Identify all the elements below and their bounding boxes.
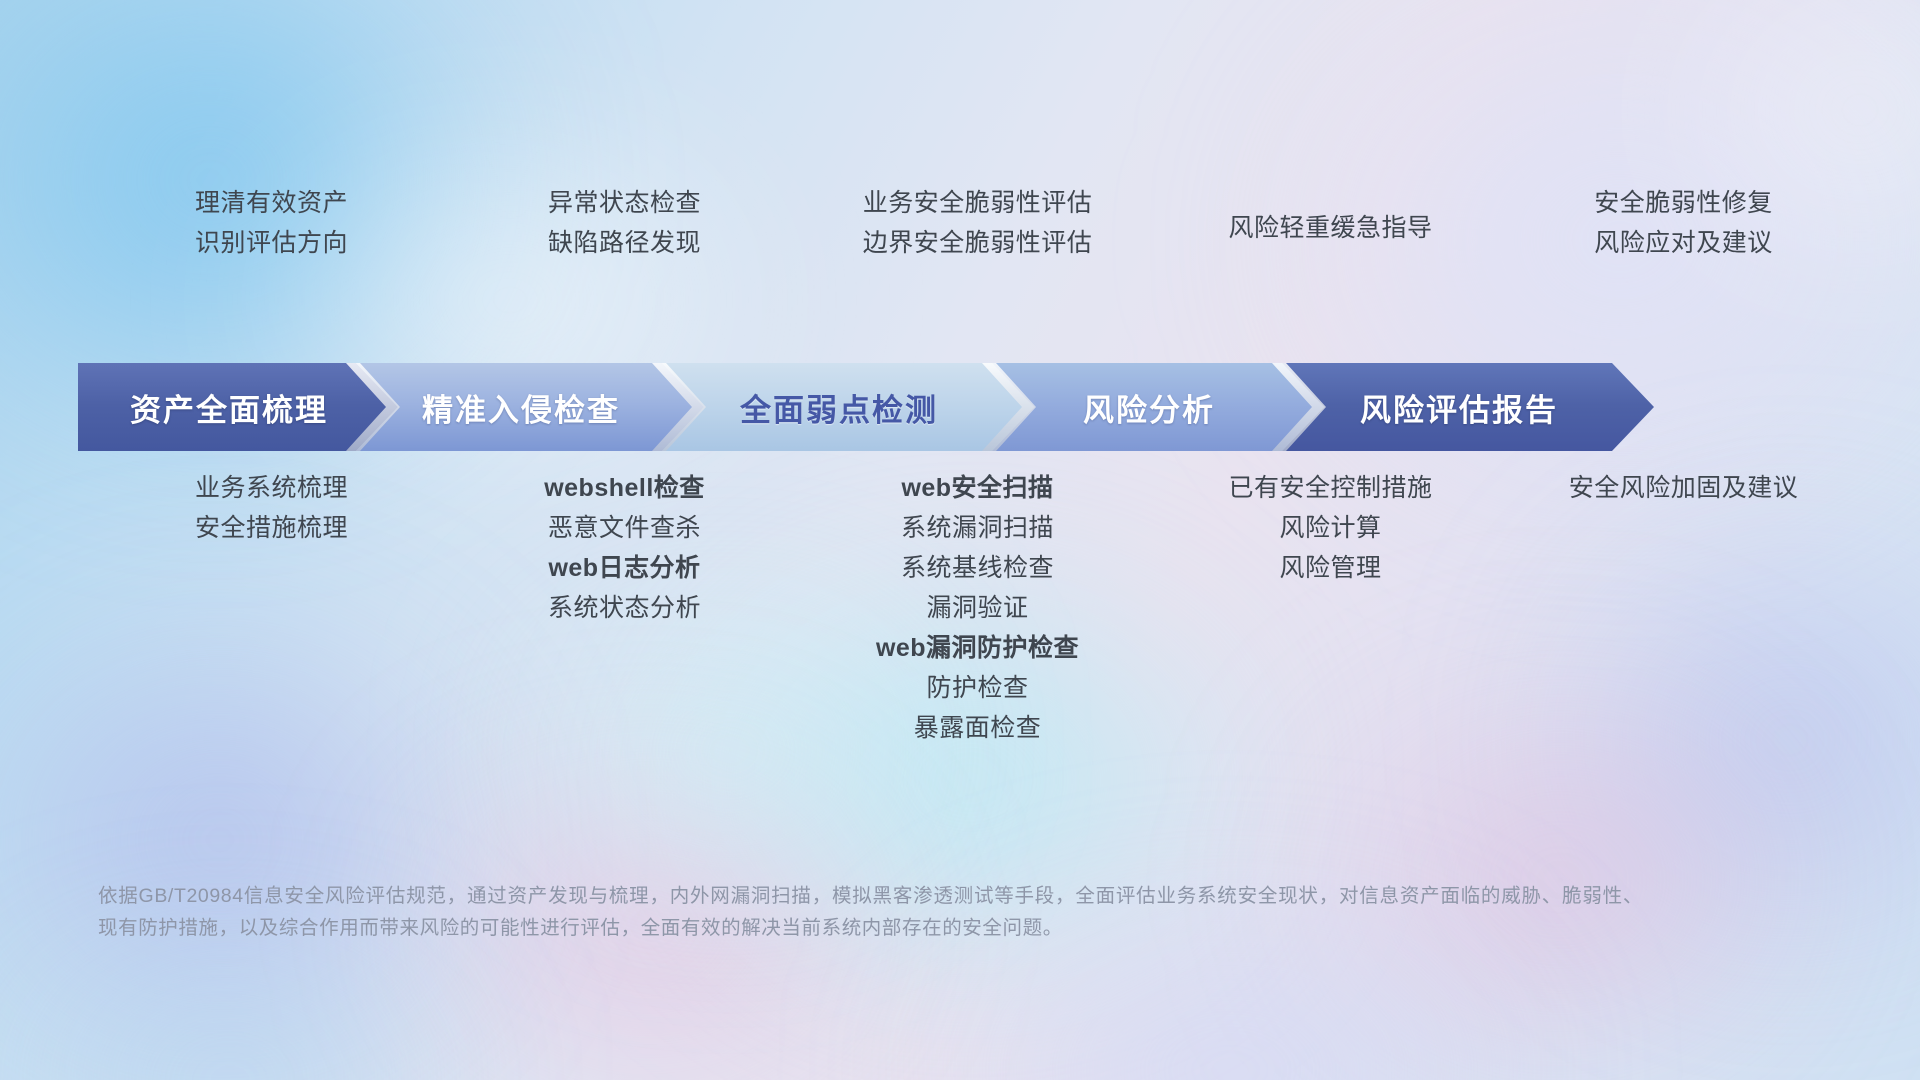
chevron-stage-4[interactable]: 风险分析 [992,363,1324,451]
bottom-labels-stage-3: web安全扫描 系统漏洞扫描 系统基线检查 漏洞验证 web漏洞防护检查 防护检… [801,468,1154,748]
bottom-labels-stage-4: 已有安全控制措施 风险计算 风险管理 [1154,468,1507,748]
bottom-label-item: 暴露面检查 [801,708,1154,748]
top-labels-row: 理清有效资产 识别评估方向 异常状态检查 缺陷路径发现 业务安全脆弱性评估 边界… [95,183,1860,273]
top-label-item: 理清有效资产 [95,183,448,223]
top-labels-stage-3: 业务安全脆弱性评估 边界安全脆弱性评估 [801,183,1154,273]
bottom-label-item: 业务系统梳理 [95,468,448,508]
top-label-item: 风险应对及建议 [1507,223,1860,263]
top-label-item: 异常状态检查 [448,183,801,223]
top-label-item: 风险轻重缓急指导 [1154,208,1507,248]
bottom-label-item: 安全风险加固及建议 [1507,468,1860,508]
bottom-label-item: 风险管理 [1154,548,1507,588]
chevron-stage-3[interactable]: 全面弱点检测 [662,363,1034,451]
bottom-labels-stage-2: webshell检查 恶意文件查杀 web日志分析 系统状态分析 [448,468,801,748]
chevron-label: 资产全面梳理 [130,385,328,430]
top-labels-stage-5: 安全脆弱性修复 风险应对及建议 [1507,183,1860,273]
bottom-labels-stage-1: 业务系统梳理 安全措施梳理 [95,468,448,748]
bottom-labels-stage-5: 安全风险加固及建议 [1507,468,1860,748]
bottom-labels-row: 业务系统梳理 安全措施梳理 webshell检查 恶意文件查杀 web日志分析 … [95,468,1860,748]
footer-paragraph: 依据GB/T20984信息安全风险评估规范，通过资产发现与梳理，内外网漏洞扫描，… [98,880,1643,944]
bottom-label-item: 安全措施梳理 [95,508,448,548]
bottom-label-item: web日志分析 [448,548,801,588]
bottom-label-item: web漏洞防护检查 [801,628,1154,668]
process-chevron-band: 资产全面梳理 精准入侵检查 全面弱点检测 风险分析 风险评估报告 [78,363,1856,451]
footer-description: 依据GB/T20984信息安全风险评估规范，通过资产发现与梳理，内外网漏洞扫描，… [98,880,1643,944]
bottom-label-item: webshell检查 [448,468,801,508]
top-label-item: 边界安全脆弱性评估 [801,223,1154,263]
bottom-label-item: 系统状态分析 [448,588,801,628]
chevron-label: 风险评估报告 [1360,385,1558,430]
chevron-stage-2[interactable]: 精准入侵检查 [356,363,704,451]
top-labels-stage-2: 异常状态检查 缺陷路径发现 [448,183,801,273]
top-label-item: 识别评估方向 [95,223,448,263]
top-label-item: 缺陷路径发现 [448,223,801,263]
bottom-label-item: 漏洞验证 [801,588,1154,628]
top-labels-stage-4: 风险轻重缓急指导 [1154,183,1507,273]
chevron-label: 风险分析 [1083,385,1215,430]
top-labels-stage-1: 理清有效资产 识别评估方向 [95,183,448,273]
bottom-label-item: 系统基线检查 [801,548,1154,588]
chevron-label: 全面弱点检测 [740,385,938,430]
top-label-item: 业务安全脆弱性评估 [801,183,1154,223]
chevron-stage-1[interactable]: 资产全面梳理 [78,363,398,451]
bottom-label-item: 系统漏洞扫描 [801,508,1154,548]
bottom-label-item: 防护检查 [801,668,1154,708]
bottom-label-item: 已有安全控制措施 [1154,468,1507,508]
bottom-label-item: web安全扫描 [801,468,1154,508]
chevron-label: 精准入侵检查 [422,385,620,430]
bottom-label-item: 恶意文件查杀 [448,508,801,548]
top-label-item: 安全脆弱性修复 [1507,183,1860,223]
chevron-stage-5[interactable]: 风险评估报告 [1282,363,1654,451]
bottom-label-item: 风险计算 [1154,508,1507,548]
infographic-canvas: 理清有效资产 识别评估方向 异常状态检查 缺陷路径发现 业务安全脆弱性评估 边界… [0,0,1920,1080]
